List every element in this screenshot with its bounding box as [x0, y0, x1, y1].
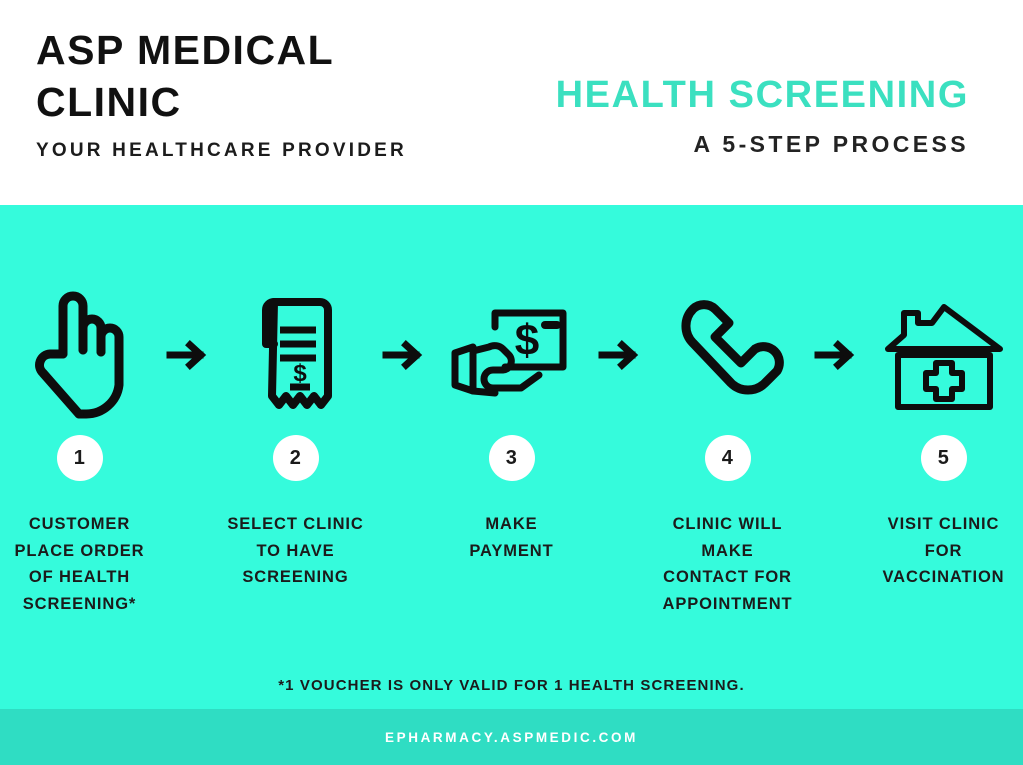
step-label: VISIT CLINIC FOR VACCINATION	[856, 511, 1023, 591]
receipt-icon: $	[231, 285, 361, 425]
page-title: HEALTH SCREENING	[556, 76, 969, 114]
footer-website-url[interactable]: EPHARMACY.ASPMEDIC.COM	[385, 730, 638, 745]
page-subtitle: A 5-STEP PROCESS	[556, 131, 969, 158]
footer-bar: EPHARMACY.ASPMEDIC.COM	[0, 709, 1023, 765]
process-step-1: 1 CUSTOMER PLACE ORDER OF HEALTH SCREENI…	[0, 285, 168, 618]
svg-text:$: $	[514, 316, 538, 365]
arrow-right-icon	[384, 285, 424, 425]
hand-holding-banknote-icon: $	[447, 285, 577, 425]
process-step-3: $ 3 MAKE PAYMENT	[424, 285, 600, 564]
step-number-badge: 4	[705, 435, 751, 481]
step-label: CLINIC WILL MAKE CONTACT FOR APPOINTMENT	[640, 511, 816, 618]
step-number-badge: 1	[57, 435, 103, 481]
arrow-right-icon	[816, 285, 856, 425]
step-number-badge: 5	[921, 435, 967, 481]
process-step-4: 4 CLINIC WILL MAKE CONTACT FOR APPOINTME…	[640, 285, 816, 618]
process-step-5: 5 VISIT CLINIC FOR VACCINATION	[856, 285, 1023, 591]
header: ASP MEDICAL CLINIC YOUR HEALTHCARE PROVI…	[0, 0, 1023, 205]
step-number-badge: 2	[273, 435, 319, 481]
process-step-2: $ 2 SELECT CLINIC TO HAVE SCREENING	[208, 285, 384, 591]
telephone-handset-icon	[663, 285, 793, 425]
process-steps: 1 CUSTOMER PLACE ORDER OF HEALTH SCREENI…	[0, 285, 1023, 618]
headline-block: HEALTH SCREENING A 5-STEP PROCESS	[556, 76, 969, 158]
arrow-right-icon	[600, 285, 640, 425]
step-label: MAKE PAYMENT	[424, 511, 600, 564]
footnote: *1 VOUCHER IS ONLY VALID FOR 1 HEALTH SC…	[0, 677, 1023, 694]
infographic-poster: ASP MEDICAL CLINIC YOUR HEALTHCARE PROVI…	[0, 0, 1023, 765]
clinic-building-icon	[879, 285, 1009, 425]
process-panel: 1 CUSTOMER PLACE ORDER OF HEALTH SCREENI…	[0, 205, 1023, 709]
step-label: CUSTOMER PLACE ORDER OF HEALTH SCREENING…	[0, 511, 168, 618]
step-label: SELECT CLINIC TO HAVE SCREENING	[208, 511, 384, 591]
svg-text:$: $	[293, 360, 307, 387]
pointing-hand-icon	[15, 285, 145, 425]
brand-block: ASP MEDICAL CLINIC YOUR HEALTHCARE PROVI…	[36, 24, 536, 162]
arrow-right-icon	[168, 285, 208, 425]
brand-name: ASP MEDICAL CLINIC	[36, 24, 536, 129]
step-number-badge: 3	[489, 435, 535, 481]
brand-tagline: YOUR HEALTHCARE PROVIDER	[36, 140, 536, 162]
